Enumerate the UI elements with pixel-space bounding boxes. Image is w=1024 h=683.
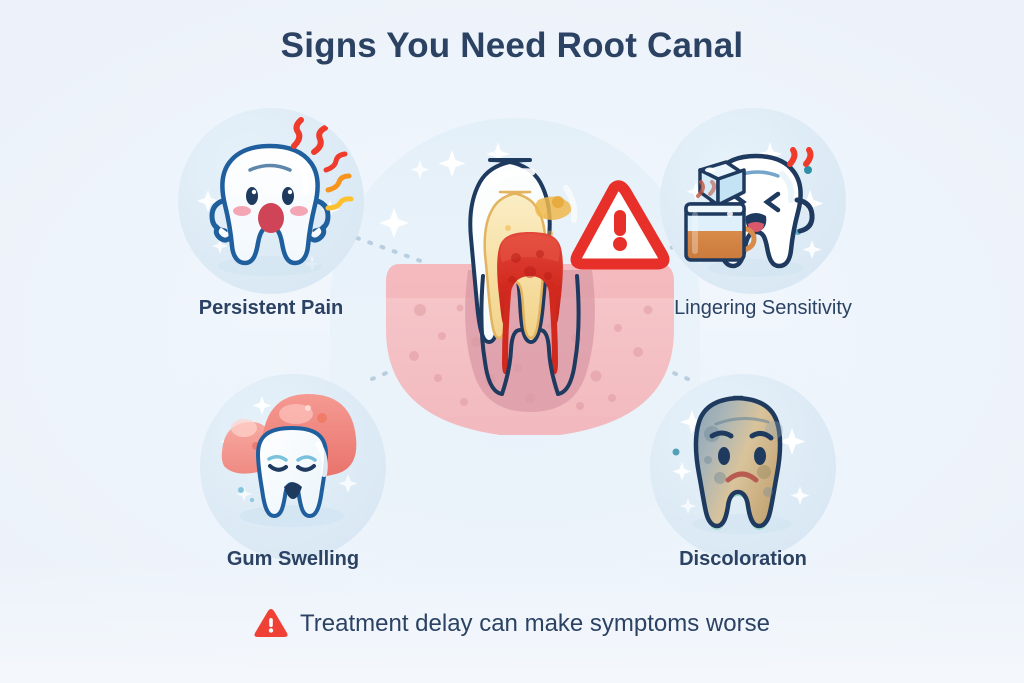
sign-label-lingering-sensitivity: Lingering Sensitivity [653, 297, 873, 320]
footer-text: Treatment delay can make symptoms worse [300, 610, 770, 638]
sign-label-gum-swelling: Gum Swelling [200, 548, 386, 571]
sign-icon-gum-swelling[interactable] [200, 374, 386, 560]
warning-triangle-icon [576, 186, 664, 264]
tooth-cross-section-diagram [380, 130, 680, 435]
warning-triangle-icon [254, 608, 288, 639]
infographic-canvas: Signs You Need Root Canal [0, 0, 1024, 683]
sign-icon-persistent-pain[interactable] [178, 108, 364, 294]
sign-label-discoloration: Discoloration [650, 548, 836, 571]
page-title: Signs You Need Root Canal [0, 26, 1024, 66]
tooth-in-pain-icon [178, 108, 364, 294]
tooth-cross-section-illustration[interactable] [380, 130, 680, 435]
sign-icon-lingering-sensitivity[interactable] [660, 108, 846, 294]
sign-label-persistent-pain: Persistent Pain [178, 297, 364, 320]
footer-warning: Treatment delay can make symptoms worse [0, 608, 1024, 639]
tooth-hot-cold-sensitivity-icon [660, 108, 846, 294]
swollen-gum-tooth-icon [200, 374, 386, 560]
